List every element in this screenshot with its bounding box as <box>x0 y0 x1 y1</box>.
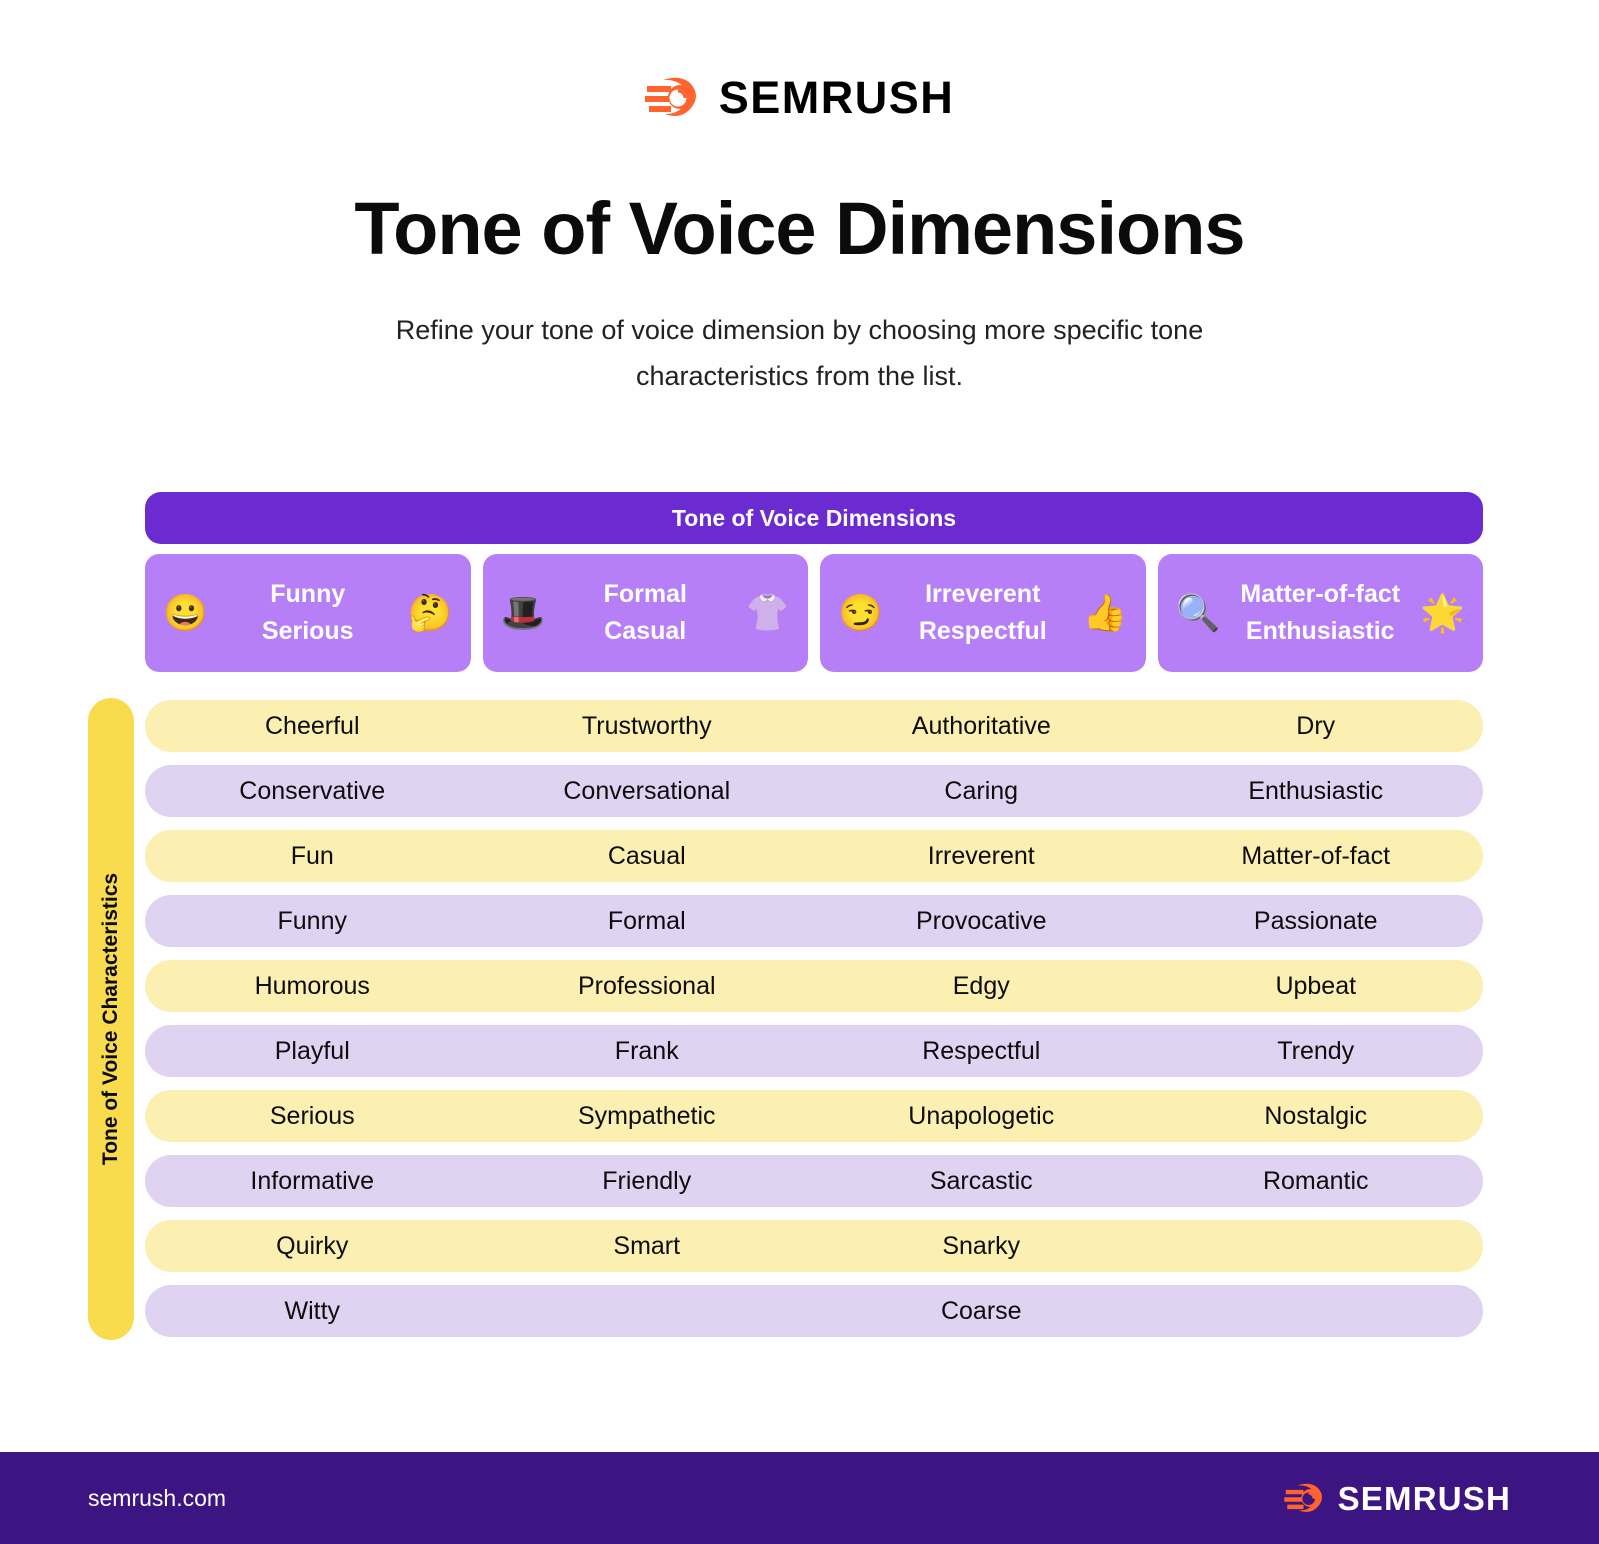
magnifying-glass-icon: 🔍 <box>1176 595 1221 631</box>
dimension-card-labels: Funny Serious <box>208 576 408 650</box>
semrush-comet-icon <box>1284 1481 1326 1515</box>
table-cell[interactable]: Sarcastic <box>814 1169 1149 1194</box>
dimension-card-labels: Matter-of-fact Enthusiastic <box>1220 576 1420 650</box>
table-cell[interactable]: Unapologetic <box>814 1104 1149 1129</box>
table-cell[interactable]: Provocative <box>814 909 1149 934</box>
dimension-card-funny-serious[interactable]: 😀 Funny Serious 🤔 <box>145 554 471 672</box>
table-cell[interactable]: Cheerful <box>145 714 480 739</box>
table-row: Fun Casual Irreverent Matter-of-fact <box>145 830 1483 882</box>
table-cell[interactable]: Formal <box>480 909 815 934</box>
page-subtitle: Refine your tone of voice dimension by c… <box>385 307 1215 400</box>
table-cell[interactable]: Playful <box>145 1039 480 1064</box>
table-row: Quirky Smart Snarky <box>145 1220 1483 1272</box>
table-cell[interactable]: Witty <box>145 1299 480 1324</box>
page-title: Tone of Voice Dimensions <box>0 186 1599 271</box>
grinning-face-icon: 😀 <box>163 595 208 631</box>
dimension-card-labels: Formal Casual <box>545 576 745 650</box>
dimension-pole-b: Serious <box>262 617 354 645</box>
table-cell[interactable]: Casual <box>480 844 815 869</box>
dimension-pole-a: Irreverent <box>925 580 1040 608</box>
table-cell[interactable]: Respectful <box>814 1039 1149 1064</box>
characteristics-table: Cheerful Trustworthy Authoritative Dry C… <box>145 700 1483 1350</box>
table-cell[interactable]: Irreverent <box>814 844 1149 869</box>
dimension-card-irreverent-respectful[interactable]: 😏 Irreverent Respectful 👍 <box>820 554 1146 672</box>
dimension-card-labels: Irreverent Respectful <box>883 576 1083 650</box>
dimension-pole-a: Funny <box>270 580 345 608</box>
table-cell[interactable]: Edgy <box>814 974 1149 999</box>
dimension-card-matteroffact-enthusiastic[interactable]: 🔍 Matter-of-fact Enthusiastic 🌟 <box>1158 554 1484 672</box>
table-cell[interactable]: Conversational <box>480 779 815 804</box>
table-cell[interactable]: Dry <box>1149 714 1484 739</box>
dimension-pole-b: Respectful <box>919 617 1047 645</box>
matrix-banner: Tone of Voice Dimensions <box>145 492 1483 544</box>
table-cell[interactable]: Fun <box>145 844 480 869</box>
table-row: Informative Friendly Sarcastic Romantic <box>145 1155 1483 1207</box>
dimension-pole-b: Casual <box>604 617 686 645</box>
table-cell[interactable]: Snarky <box>814 1234 1149 1259</box>
page-footer: semrush.com SEMRUSH <box>0 1452 1599 1544</box>
table-cell[interactable]: Caring <box>814 779 1149 804</box>
table-cell[interactable]: Nostalgic <box>1149 1104 1484 1129</box>
table-cell[interactable]: Coarse <box>814 1299 1149 1324</box>
glowing-star-icon: 🌟 <box>1420 595 1465 631</box>
table-cell[interactable]: Conservative <box>145 779 480 804</box>
table-cell[interactable]: Matter-of-fact <box>1149 844 1484 869</box>
thumbs-up-icon: 👍 <box>1083 595 1128 631</box>
table-row: Humorous Professional Edgy Upbeat <box>145 960 1483 1012</box>
table-cell[interactable]: Serious <box>145 1104 480 1129</box>
table-cell[interactable]: Funny <box>145 909 480 934</box>
table-cell[interactable]: Informative <box>145 1169 480 1194</box>
dimension-pole-a: Matter-of-fact <box>1240 580 1400 608</box>
table-cell[interactable]: Enthusiastic <box>1149 779 1484 804</box>
table-row: Serious Sympathetic Unapologetic Nostalg… <box>145 1090 1483 1142</box>
dimension-card-formal-casual[interactable]: 🎩 Formal Casual 👚 <box>483 554 809 672</box>
footer-wordmark: SEMRUSH <box>1338 1482 1511 1515</box>
table-cell[interactable]: Sympathetic <box>480 1104 815 1129</box>
dimension-cards: 😀 Funny Serious 🤔 🎩 Formal Casual 👚 😏 Ir… <box>145 554 1483 672</box>
table-cell[interactable]: Trustworthy <box>480 714 815 739</box>
brand-wordmark: SEMRUSH <box>719 75 955 120</box>
smirking-face-icon: 😏 <box>838 595 883 631</box>
womans-clothes-icon: 👚 <box>745 595 790 631</box>
top-hat-icon: 🎩 <box>501 595 546 631</box>
table-row: Cheerful Trustworthy Authoritative Dry <box>145 700 1483 752</box>
table-cell[interactable]: Passionate <box>1149 909 1484 934</box>
matrix-banner-label: Tone of Voice Dimensions <box>672 505 956 532</box>
table-row: Playful Frank Respectful Trendy <box>145 1025 1483 1077</box>
table-row: Funny Formal Provocative Passionate <box>145 895 1483 947</box>
table-row: Witty Coarse <box>145 1285 1483 1337</box>
characteristics-axis-label-text: Tone of Voice Characteristics <box>99 873 123 1165</box>
table-cell[interactable]: Quirky <box>145 1234 480 1259</box>
brand-logo-footer: SEMRUSH <box>1284 1481 1511 1515</box>
table-cell[interactable]: Upbeat <box>1149 974 1484 999</box>
brand-logo-header: SEMRUSH <box>0 0 1599 120</box>
tone-matrix: Tone of Voice Dimensions 😀 Funny Serious… <box>145 492 1483 672</box>
table-row: Conservative Conversational Caring Enthu… <box>145 765 1483 817</box>
table-cell[interactable]: Trendy <box>1149 1039 1484 1064</box>
table-cell[interactable]: Friendly <box>480 1169 815 1194</box>
dimension-pole-a: Formal <box>604 580 687 608</box>
semrush-comet-icon <box>645 74 701 120</box>
table-cell[interactable]: Frank <box>480 1039 815 1064</box>
characteristics-axis-label: Tone of Voice Characteristics <box>88 698 134 1340</box>
dimension-pole-b: Enthusiastic <box>1246 617 1395 645</box>
footer-url[interactable]: semrush.com <box>88 1485 226 1512</box>
table-cell[interactable]: Smart <box>480 1234 815 1259</box>
table-cell[interactable]: Romantic <box>1149 1169 1484 1194</box>
table-cell[interactable]: Professional <box>480 974 815 999</box>
table-cell[interactable]: Humorous <box>145 974 480 999</box>
thinking-face-icon: 🤔 <box>408 595 453 631</box>
table-cell[interactable]: Authoritative <box>814 714 1149 739</box>
